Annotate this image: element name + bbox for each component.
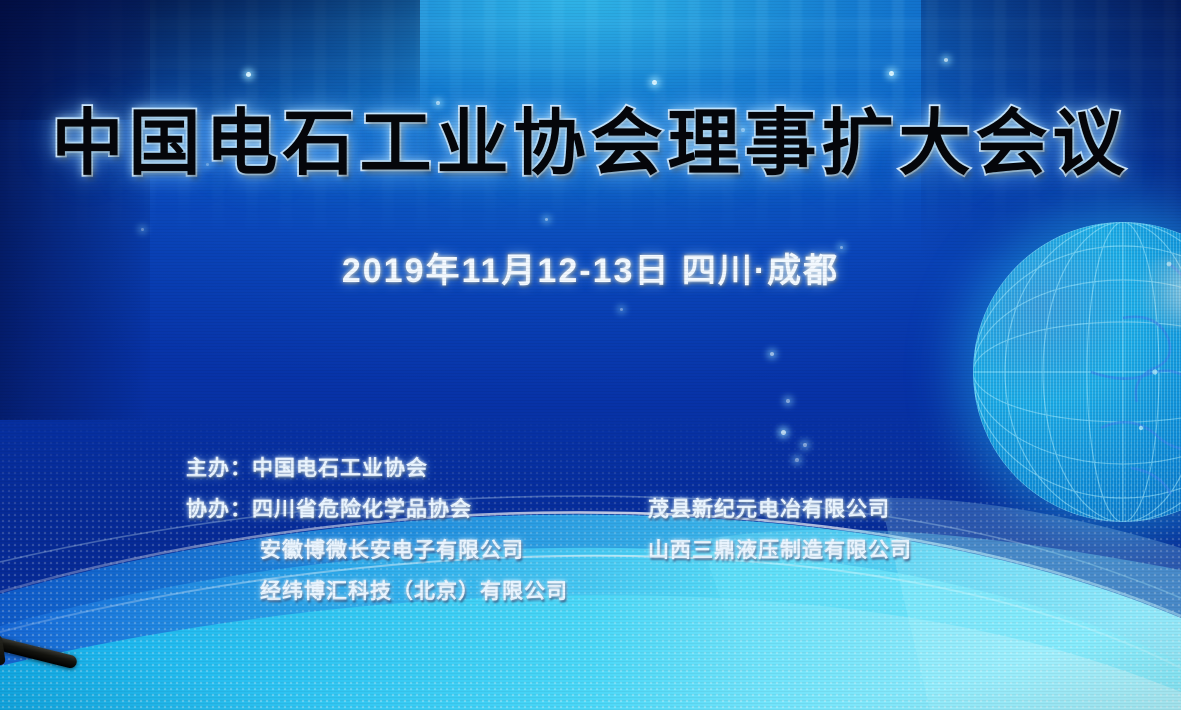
cosponsor-line-2: 山西三鼎液压制造有限公司: [648, 530, 912, 571]
cosponsor-line-1: 茂县新纪元电冶有限公司: [648, 489, 890, 530]
credits-block: 主办：中国电石工业协会 协办：四川省危险化学品协会 茂县新纪元电冶有限公司 安徽…: [186, 448, 1046, 612]
left-edge-shadow: [0, 0, 150, 420]
credit-row: 经纬博汇科技（北京）有限公司: [186, 571, 1046, 612]
co-organizer-line-2: 安徽博微长安电子有限公司: [186, 530, 524, 571]
credit-row: 安徽博微长安电子有限公司 山西三鼎液压制造有限公司: [186, 530, 1046, 571]
conference-backdrop-screen: 中国电石工业协会理事扩大会议 2019年11月12-13日 四川·成都 主办：中…: [0, 0, 1181, 710]
co-organizer-line-3: 经纬博汇科技（北京）有限公司: [186, 571, 568, 612]
event-date-location: 2019年11月12-13日 四川·成都: [0, 254, 1181, 288]
page-title: 中国电石工业协会理事扩大会议: [0, 108, 1181, 180]
co-organizer-line: 协办：四川省危险化学品协会: [186, 489, 472, 530]
organizer-line: 主办：中国电石工业协会: [186, 448, 428, 489]
credit-row: 主办：中国电石工业协会: [186, 448, 1046, 489]
credit-row: 协办：四川省危险化学品协会 茂县新纪元电冶有限公司: [186, 489, 1046, 530]
